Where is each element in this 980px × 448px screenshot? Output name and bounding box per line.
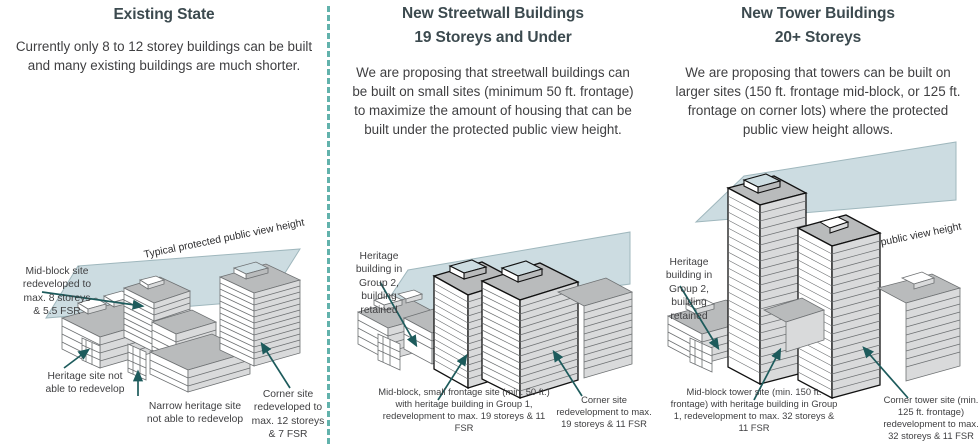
callout-mid-block-tower-site: Mid-block tower site (min. 150 ft. front… xyxy=(668,386,840,434)
panel-tower-subtitle: 20+ Storeys xyxy=(656,28,980,48)
comparison-diagram-page: Existing State Currently only 8 to 12 st… xyxy=(0,0,980,448)
callout-corner-tower-site: Corner tower site (min. 125 ft. frontage… xyxy=(882,394,980,442)
panel-tower-title: New Tower Buildings xyxy=(656,4,980,24)
callout-corner-site-streetwall: Corner site redevelopment to max. 19 sto… xyxy=(556,394,652,430)
panel-tower-body: We are proposing that towers can be buil… xyxy=(656,63,980,139)
callout-mid-block-site: Mid-block site redeveloped to max. 8 sto… xyxy=(2,265,112,319)
view-plane xyxy=(376,232,630,318)
callout-heritage-site: Heritage site not able to redevelop xyxy=(30,370,140,397)
panel-existing-body: Currently only 8 to 12 storey buildings … xyxy=(0,37,328,75)
panel-existing-title: Existing State xyxy=(0,5,328,25)
view-plane xyxy=(696,142,956,222)
panel-streetwall-body: We are proposing that streetwall buildin… xyxy=(330,63,656,139)
leader-arrows xyxy=(380,282,582,400)
callout-narrow-heritage-site: Narrow heritage site not able to redevel… xyxy=(120,400,270,427)
panel-new-tower-buildings: New Tower Buildings 20+ Storeys We are p… xyxy=(656,0,980,448)
callout-heritage-group-2-tower: Heritage building in Group 2, building r… xyxy=(658,256,720,323)
callout-corner-site: Corner site redeveloped to max. 12 store… xyxy=(250,388,326,442)
callout-heritage-group-2-streetwall: Heritage building in Group 2, building r… xyxy=(348,250,410,317)
callout-mid-block-small-frontage: Mid-block, small frontage site (min. 50 … xyxy=(376,386,552,434)
plane-label-existing: Typical protected public view height xyxy=(143,217,305,260)
panel-streetwall-title: New Streetwall Buildings xyxy=(330,4,656,24)
panel-new-streetwall-buildings: New Streetwall Buildings 19 Storeys and … xyxy=(330,0,656,448)
panel-streetwall-subtitle: 19 Storeys and Under xyxy=(330,28,656,48)
